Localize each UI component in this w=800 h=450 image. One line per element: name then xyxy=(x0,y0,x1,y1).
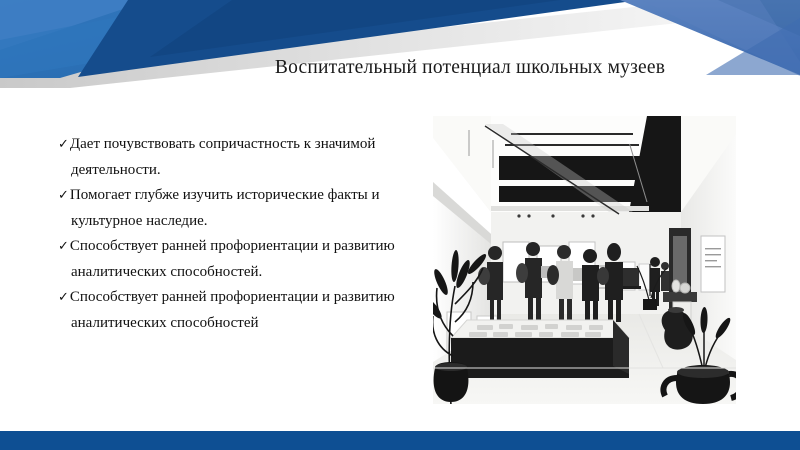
ceiling-spot xyxy=(581,214,584,217)
ceiling-rod-knob xyxy=(627,140,631,144)
vase-on-pillar xyxy=(672,280,680,292)
ceiling-spot xyxy=(517,214,520,217)
list-item-text: Способствует ранней профориентации и раз… xyxy=(70,238,395,280)
list-item-text: Дает почувствовать сопричастность к знач… xyxy=(70,136,376,178)
ceiling-line-1 xyxy=(511,133,633,135)
ceiling-spot xyxy=(591,214,594,217)
museum-photo xyxy=(433,116,736,404)
header-decoration xyxy=(0,0,800,100)
list-item-text: Способствует ранней профориентации и раз… xyxy=(70,289,395,331)
list-item-text: Помогает глубже изучить исторические фак… xyxy=(70,187,380,229)
visitor-figure-far xyxy=(661,262,669,291)
presentation-slide: Воспитательный потенциал школьных музеев… xyxy=(0,0,800,450)
list-item: ✓Способствует ранней профориентации и ра… xyxy=(58,285,420,336)
ceiling-spot xyxy=(527,214,530,217)
footer-bar xyxy=(0,431,800,450)
ceramic-jar-lid xyxy=(668,307,684,313)
list-item: ✓Дает почувствовать сопричастность к зна… xyxy=(58,132,420,183)
plant-small-pot xyxy=(643,299,657,310)
ceiling-black-band-2 xyxy=(499,186,649,202)
check-icon: ✓ xyxy=(58,290,70,305)
header-shapes-svg xyxy=(0,0,800,100)
vase-on-pillar xyxy=(680,283,690,293)
plant-pot-left-rim xyxy=(435,363,467,371)
bullet-list: ✓Дает почувствовать сопричастность к зна… xyxy=(58,132,420,336)
display-case-body xyxy=(451,338,629,378)
pillar-base xyxy=(663,292,697,302)
list-item: ✓Способствует ранней профориентации и ра… xyxy=(58,234,420,285)
check-icon: ✓ xyxy=(58,239,70,254)
ceiling-spot xyxy=(551,214,554,217)
page-title: Воспитательный потенциал школьных музеев xyxy=(210,55,730,81)
check-icon: ✓ xyxy=(58,188,70,203)
framed-artwork-right xyxy=(701,236,725,292)
check-icon: ✓ xyxy=(58,137,70,152)
museum-illustration-svg xyxy=(433,116,736,404)
list-item: ✓Помогает глубже изучить исторические фа… xyxy=(58,183,420,234)
